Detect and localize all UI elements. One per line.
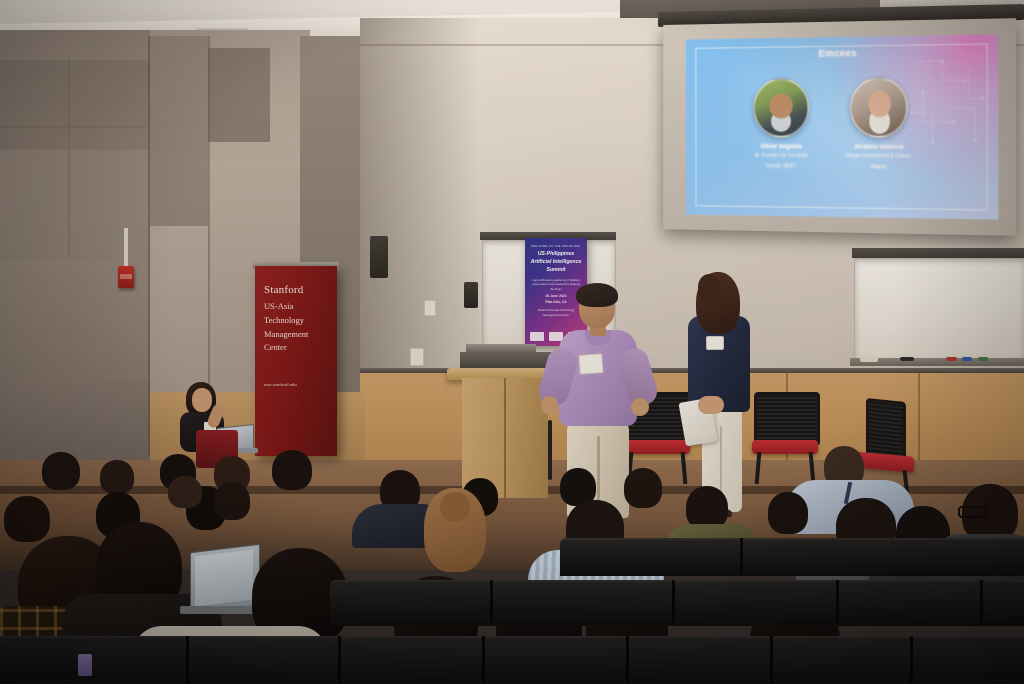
slide-emcee-card: Jordana Valencia People Development & Cu… — [828, 77, 931, 171]
name-badge — [578, 353, 603, 375]
audience-head — [214, 482, 250, 520]
female-emcee-hair-front — [698, 274, 720, 300]
audience-head — [440, 492, 470, 522]
emcee-role-line1: People Development & Culture, — [828, 153, 931, 161]
whiteboard-right — [854, 258, 1024, 362]
seat-divider — [490, 580, 493, 624]
audience-head — [4, 496, 50, 542]
poster-logo-icon — [530, 332, 544, 341]
wall-seam-line — [0, 126, 150, 128]
emcee-name: Oliver Segovia — [732, 143, 832, 150]
audience-head — [624, 468, 662, 508]
male-emcee-left-hand — [541, 396, 558, 415]
audience-head — [768, 492, 808, 534]
seat-divider — [910, 636, 913, 684]
marker-green-icon[interactable] — [978, 357, 988, 361]
seat-divider — [740, 538, 743, 574]
stanford-wordmark: Stanford — [264, 284, 303, 296]
wall-recess-panel — [208, 48, 270, 142]
seat-divider — [980, 580, 983, 624]
male-emcee-right-hand — [631, 398, 649, 416]
phone-screen-icon[interactable] — [78, 654, 92, 676]
auditorium-seat-row[interactable] — [560, 538, 1024, 576]
marker-red-icon[interactable] — [946, 357, 957, 361]
seat-divider — [672, 580, 675, 624]
eyeglasses-icon — [958, 506, 988, 518]
name-badge — [706, 336, 724, 350]
laptop-screen — [195, 549, 253, 606]
emcee-avatar — [850, 77, 908, 138]
female-emcee-hands — [698, 396, 724, 414]
poster-eyebrow: WELCOME TO THE INAUGURAL — [525, 244, 587, 248]
auditorium-seat-row[interactable] — [0, 636, 1024, 684]
conduit-pipe — [124, 228, 128, 268]
seat-divider — [338, 636, 341, 684]
projection-screen: Emcees Oliver Segovia Sr. Founder | Sr. … — [658, 4, 1024, 252]
attendee-face — [192, 388, 212, 412]
auditorium-seat-row[interactable] — [330, 580, 1024, 626]
emcee-avatar — [753, 78, 809, 138]
poster-title: US-Philippines Artificial Intelligence S… — [528, 251, 584, 274]
seat-divider — [482, 636, 485, 684]
emcee-role-line1: Sr. Founder | Sr. Co-Hosts — [732, 153, 832, 161]
audience-head — [272, 450, 312, 490]
projection-screen-surface: Emcees Oliver Segovia Sr. Founder | Sr. … — [663, 18, 1016, 236]
banner-url: asia.stanford.edu — [264, 382, 297, 387]
audience-head — [100, 460, 134, 494]
seat-divider — [626, 636, 629, 684]
marker-black-icon[interactable] — [900, 357, 914, 361]
fire-alarm-pull-station-icon[interactable] — [118, 266, 134, 288]
wall-column-face — [150, 36, 208, 226]
presentation-slide: Emcees Oliver Segovia Sr. Founder | Sr. … — [686, 34, 999, 219]
wall-switch-plate[interactable] — [424, 300, 436, 316]
conference-photo: Emcees Oliver Segovia Sr. Founder | Sr. … — [0, 0, 1024, 684]
emcee-name: Jordana Valencia — [828, 143, 931, 150]
seat-divider — [836, 580, 839, 624]
banner-center-name: US-Asia Technology Management Center — [264, 300, 308, 355]
wall-speaker-icon — [464, 282, 478, 308]
marker-blue-icon[interactable] — [962, 357, 972, 361]
male-emcee-hair — [576, 283, 618, 307]
eraser-icon[interactable] — [860, 356, 878, 362]
seat-divider — [770, 636, 773, 684]
audience-area — [0, 430, 1024, 684]
wall-acoustic-panel — [0, 150, 152, 380]
audience-head — [168, 476, 202, 508]
wall-seam-line — [68, 58, 70, 258]
wall-outlet-plate — [410, 348, 424, 366]
slide-emcee-card: Oliver Segovia Sr. Founder | Sr. Co-Host… — [732, 78, 832, 171]
emcee-role-line2: Magma — [828, 163, 931, 171]
audience-head — [42, 452, 80, 490]
emcee-role-line2: Google, NEXT — [732, 163, 832, 171]
wall-speaker-icon — [370, 236, 388, 278]
seat-divider — [186, 636, 189, 684]
